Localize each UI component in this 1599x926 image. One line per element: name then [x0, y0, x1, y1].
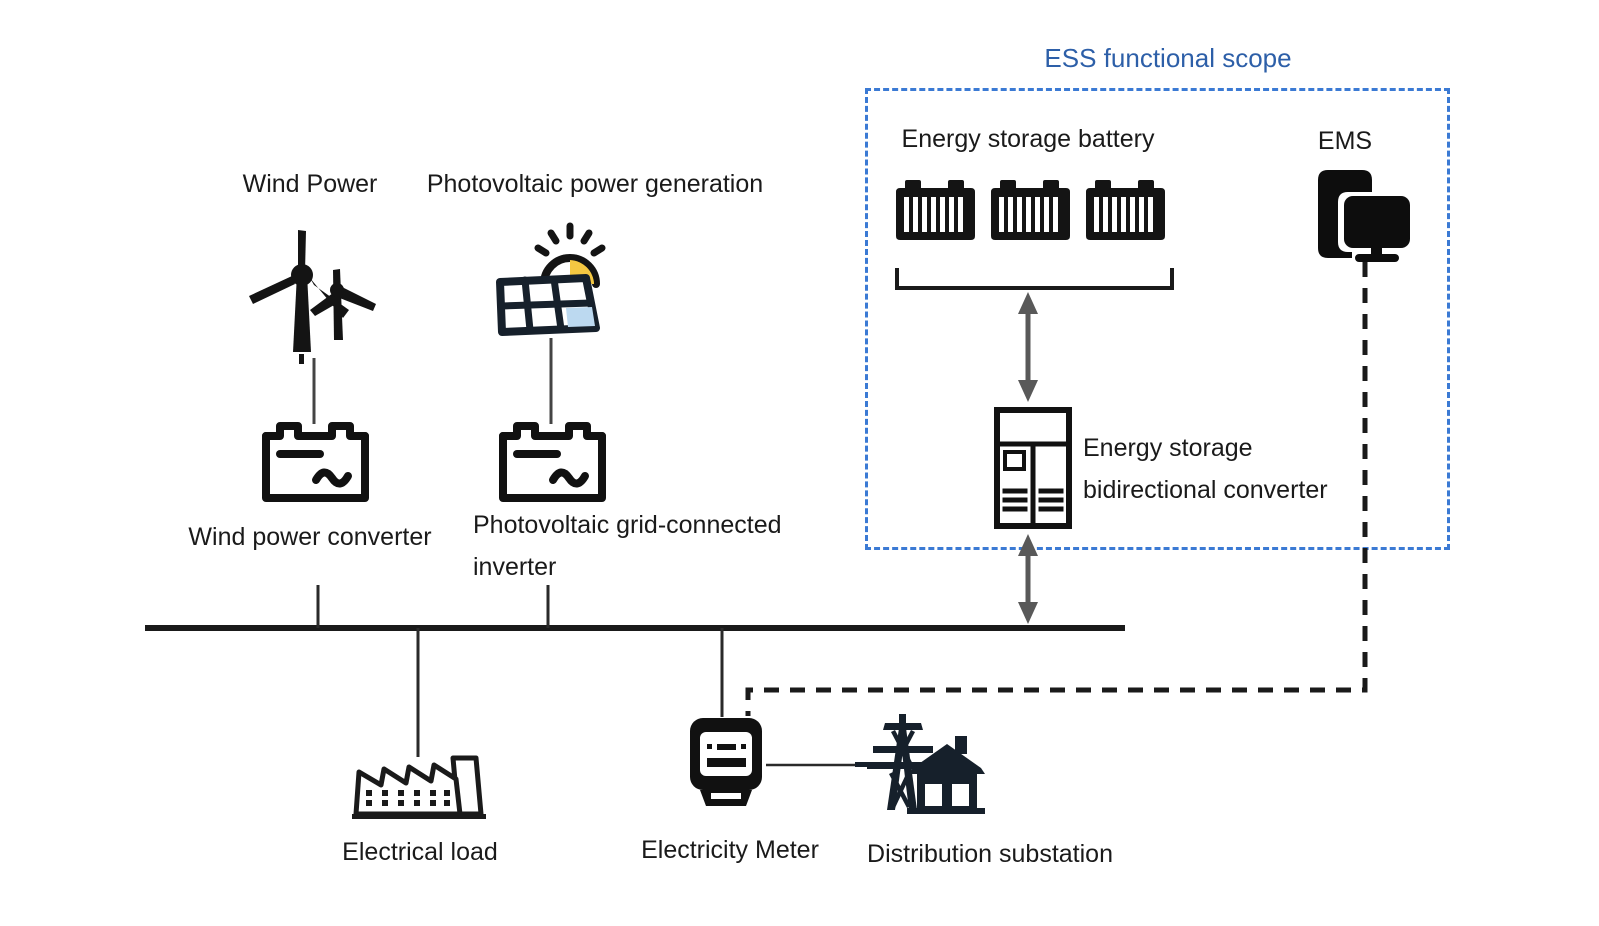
connection-lines-layer [0, 0, 1599, 926]
substation-pylon-house-icon [855, 706, 990, 816]
converter-display-icon [1005, 452, 1024, 469]
sun-rays-icon [538, 226, 602, 253]
converter-bus-double-arrow [1018, 534, 1038, 624]
battery-converter-icon [258, 420, 373, 506]
diagram-canvas: ESS functional scope Wind Power Photovol… [0, 0, 1599, 926]
converter-cabinet-icon [993, 406, 1073, 530]
storage-battery-icon [891, 178, 981, 248]
wind-turbine-icon [248, 228, 378, 360]
storage-battery-icon [1081, 178, 1171, 248]
panel-tint-cell [566, 307, 595, 327]
ems-computer-icon [1310, 166, 1414, 264]
battery-group-bracket [897, 268, 1172, 288]
solar-panel-icon [478, 222, 618, 340]
battery-inverter-icon [495, 420, 610, 506]
storage-battery-icon [986, 178, 1076, 248]
electricity-meter-icon [686, 714, 766, 810]
factory-icon [352, 752, 486, 820]
battery-converter-double-arrow [1018, 292, 1038, 402]
